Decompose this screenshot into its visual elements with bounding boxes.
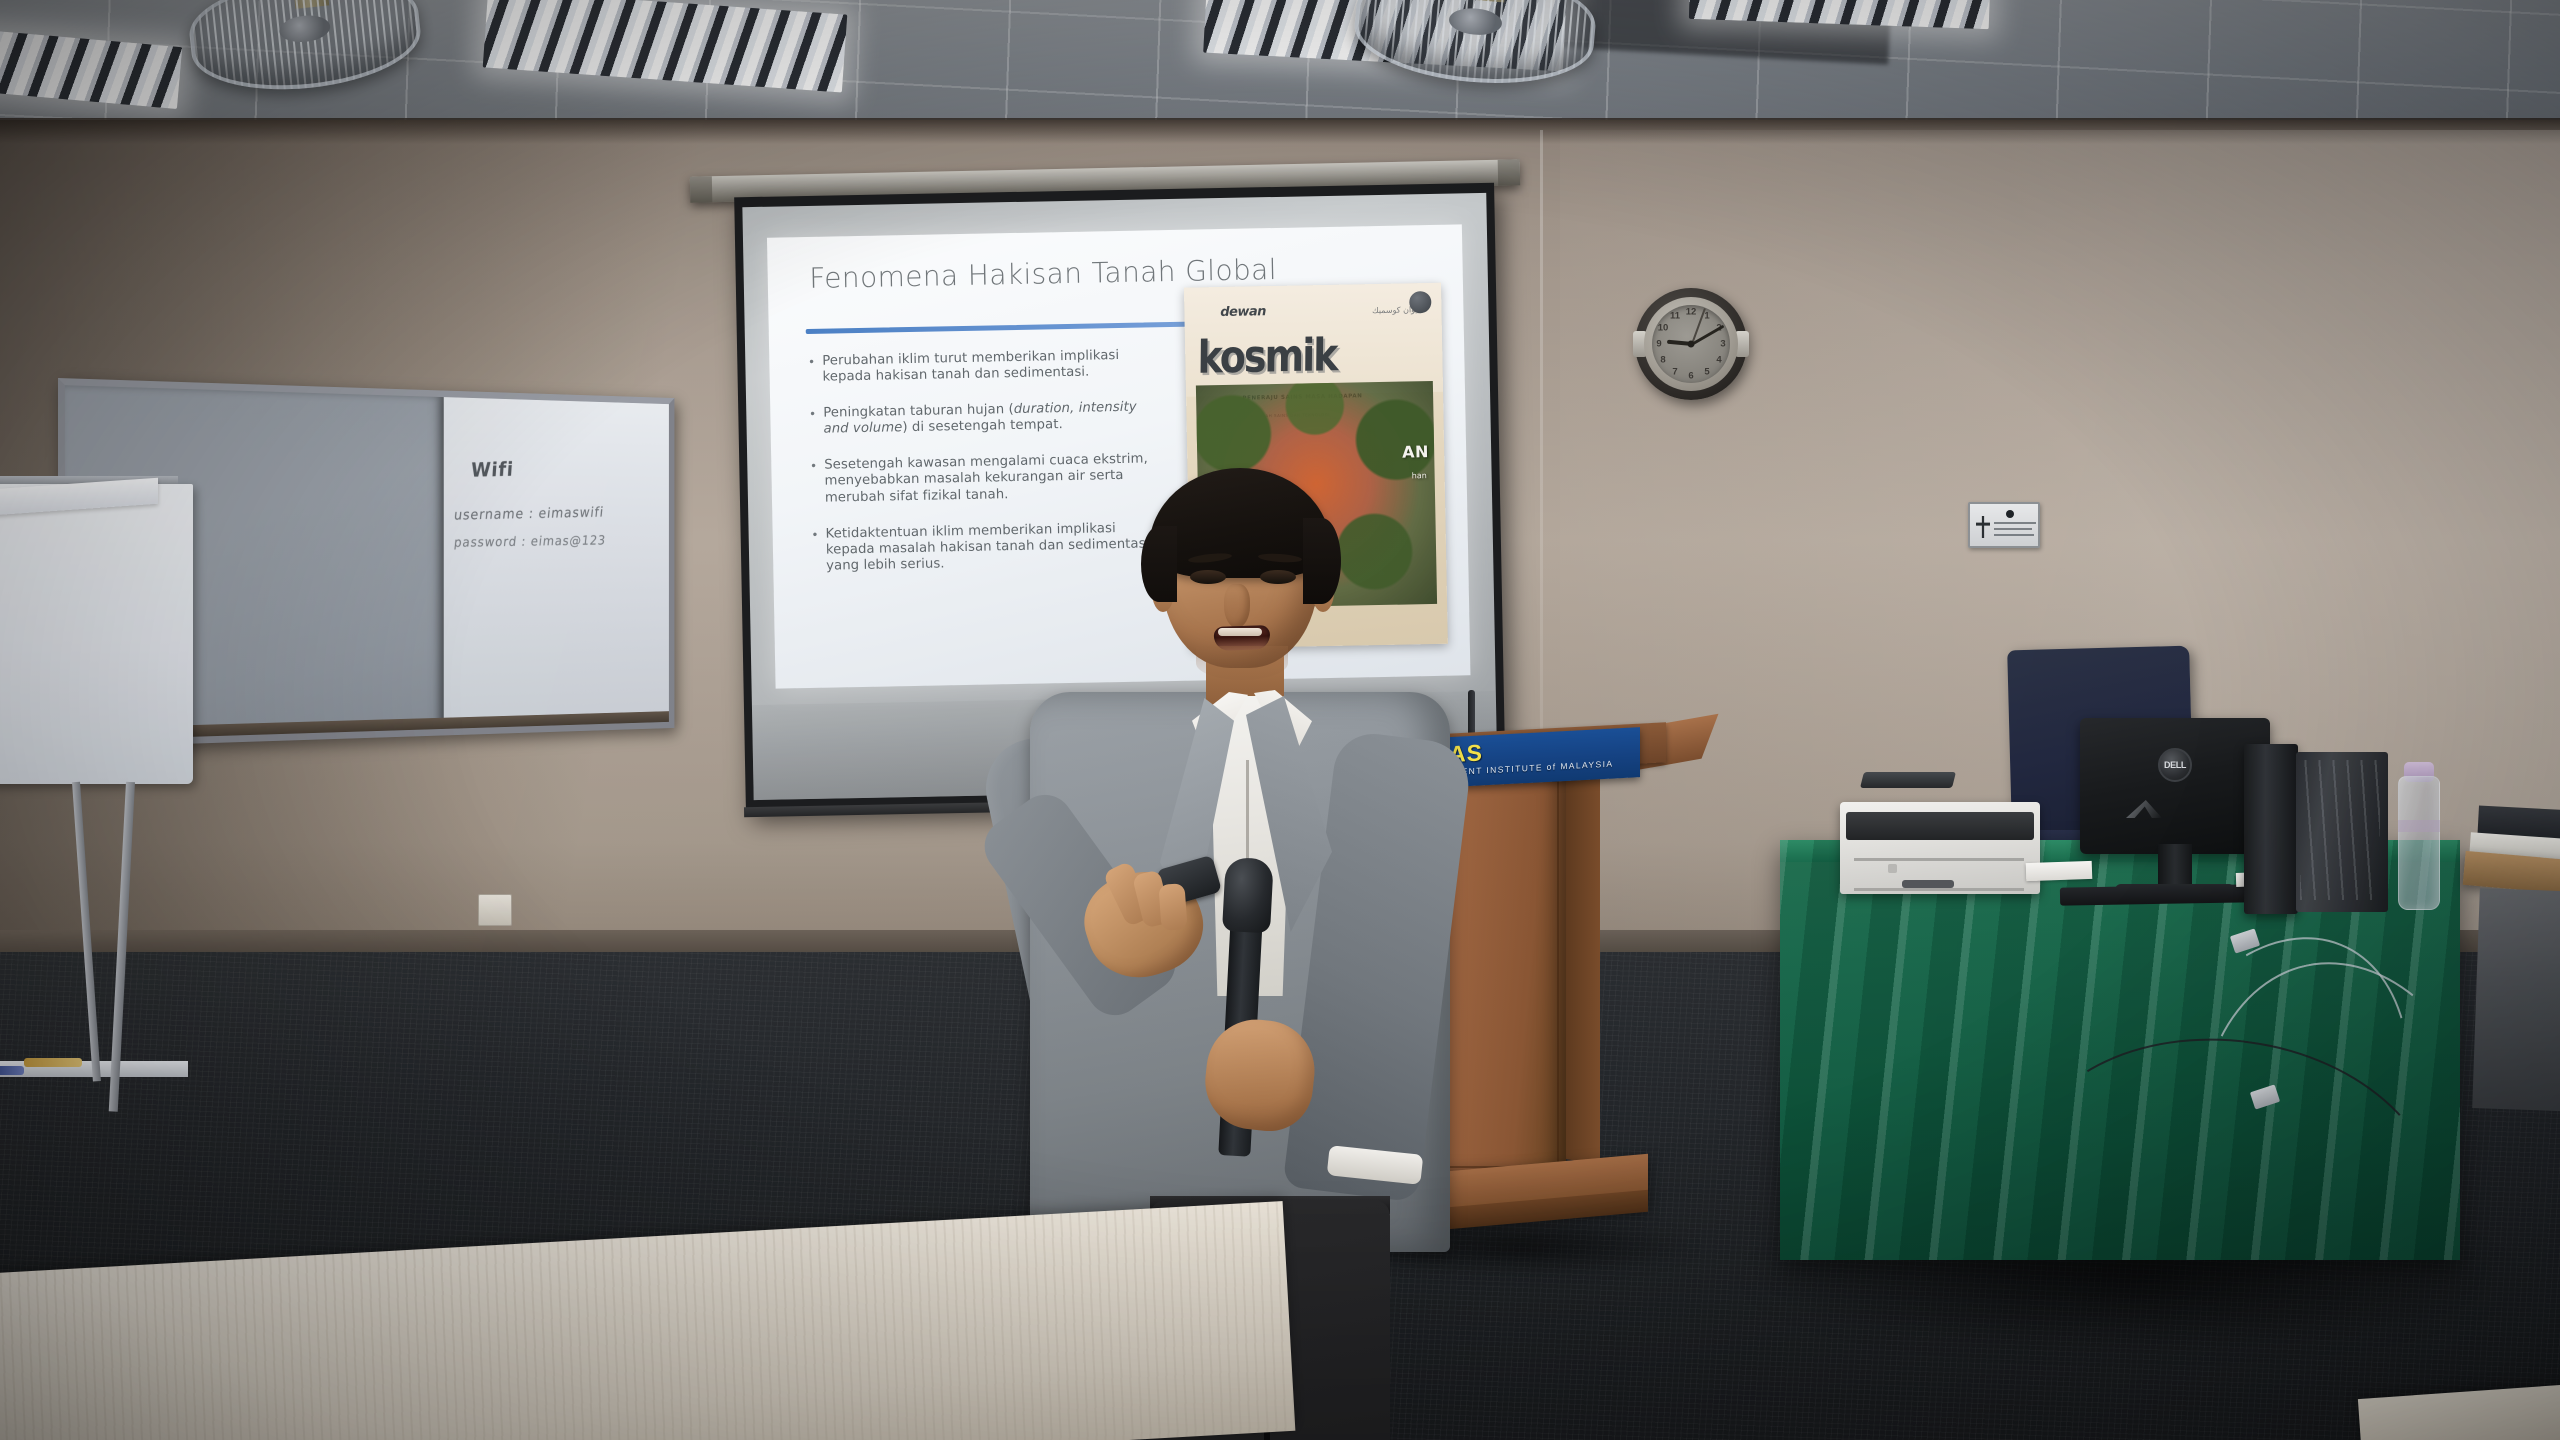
whiteboard-panel-right: Wifi username : eimaswifi password : eim… xyxy=(443,394,668,732)
printer-output-tray xyxy=(1860,772,1956,788)
presenter-finger xyxy=(1158,883,1187,931)
printer-tray-handle[interactable] xyxy=(1902,880,1954,888)
monitor-panel-back: DELL xyxy=(2080,718,2270,854)
keyboard[interactable] xyxy=(2060,884,2250,905)
paper-stack xyxy=(2026,861,2093,881)
presenter-chin xyxy=(1196,646,1288,680)
magazine-headline: AN xyxy=(1402,442,1429,462)
clock-num-11: 11 xyxy=(1670,311,1680,322)
bullet-marker: • xyxy=(808,354,816,386)
slide-bullet: • Peningkatan taburan hujan (duration, i… xyxy=(809,399,1157,438)
clock-num-5: 5 xyxy=(1704,367,1709,378)
desktop-tower xyxy=(2244,744,2298,914)
clock-num-9: 9 xyxy=(1656,339,1661,350)
clock-face: 12 1 2 3 4 5 6 7 8 9 10 11 xyxy=(1652,305,1730,383)
microphone-head xyxy=(1222,857,1274,933)
first-aid-icon xyxy=(1976,516,1990,538)
printer-paper-slot xyxy=(1854,858,2024,861)
monitor-vent-mark xyxy=(2126,800,2162,818)
whiteboard-wifi-password: password : eimas@123 xyxy=(453,534,606,551)
presenter-teeth xyxy=(1218,628,1262,636)
monitor-stand-neck xyxy=(2158,844,2192,888)
sign-text-line xyxy=(1994,528,2032,530)
whiteboard-wifi-username: username : eimaswifi xyxy=(453,504,605,523)
bullet-text: Perubahan iklim turut memberikan implika… xyxy=(822,347,1156,386)
magazine-masthead-small: dewan xyxy=(1220,305,1266,321)
clock-center-pin xyxy=(1688,341,1695,348)
sign-mount-top xyxy=(1968,502,2040,503)
bottle-label-band xyxy=(2398,820,2440,832)
clock-num-7: 7 xyxy=(1672,367,1677,378)
sign-mount-bottom xyxy=(1968,547,2040,548)
magazine-logo-dot xyxy=(1409,291,1431,313)
clock-num-3: 3 xyxy=(1720,339,1725,350)
slide-bullet: • Perubahan iklim turut memberikan impli… xyxy=(808,347,1156,386)
clock-num-4: 4 xyxy=(1716,355,1721,366)
sign-dot-icon xyxy=(2006,510,2014,518)
bullet-text: Peningkatan taburan hujan (duration, int… xyxy=(823,399,1157,438)
shelf-drape xyxy=(2472,888,2560,1112)
bullet-text-part: ) di sesetengah tempat. xyxy=(902,417,1063,435)
clock-num-10: 10 xyxy=(1658,323,1669,334)
sign-text-line xyxy=(1994,534,2034,536)
whiteboard-wifi-heading: Wifi xyxy=(470,458,514,481)
housing-end-left xyxy=(690,176,713,202)
dell-logo-icon: DELL xyxy=(2158,748,2192,782)
presenter-hair xyxy=(1149,468,1331,578)
clock-num-6: 6 xyxy=(1688,371,1693,382)
bullet-marker: • xyxy=(809,406,817,438)
presenter-eye-left xyxy=(1190,570,1226,584)
sign-text-line xyxy=(1994,522,2036,524)
wall-notice-sign xyxy=(1968,502,2040,548)
presenter-nose xyxy=(1224,584,1250,628)
whiteboard-marker xyxy=(24,1058,82,1067)
housing-end-right xyxy=(1498,159,1521,185)
bullet-marker: • xyxy=(811,526,819,574)
flipchart-paper xyxy=(0,484,193,784)
flipchart-folded-sheet xyxy=(0,478,158,517)
whiteboard-marker-blue xyxy=(0,1066,24,1075)
lectern-side-panel xyxy=(1566,767,1600,1165)
magazine-masthead-large: kosmik xyxy=(1197,328,1336,383)
flipchart-easel xyxy=(0,466,200,796)
printer-body xyxy=(1840,802,2040,894)
clock-num-8: 8 xyxy=(1660,355,1665,366)
clock-num-12: 12 xyxy=(1686,307,1697,318)
wall-outlet xyxy=(478,894,512,926)
bullet-marker: • xyxy=(810,458,818,506)
flipchart-legs xyxy=(0,766,198,1186)
rack-cables xyxy=(2300,760,2380,900)
printer-top-panel xyxy=(1846,812,2034,840)
printer-cassette-line xyxy=(1854,888,2024,891)
dell-logo-text: DELL xyxy=(2164,760,2186,770)
presenter-eye-right xyxy=(1260,570,1296,584)
seminar-room-photo: Wifi username : eimaswifi password : eim… xyxy=(0,0,2560,1440)
flipchart-leg xyxy=(72,782,101,1082)
water-bottle xyxy=(2398,776,2440,910)
printer-power-button[interactable] xyxy=(1888,864,1897,873)
laser-printer xyxy=(1840,774,2040,894)
clock-num-1: 1 xyxy=(1704,311,1709,322)
wall-clock: 12 1 2 3 4 5 6 7 8 9 10 11 xyxy=(1635,288,1747,400)
